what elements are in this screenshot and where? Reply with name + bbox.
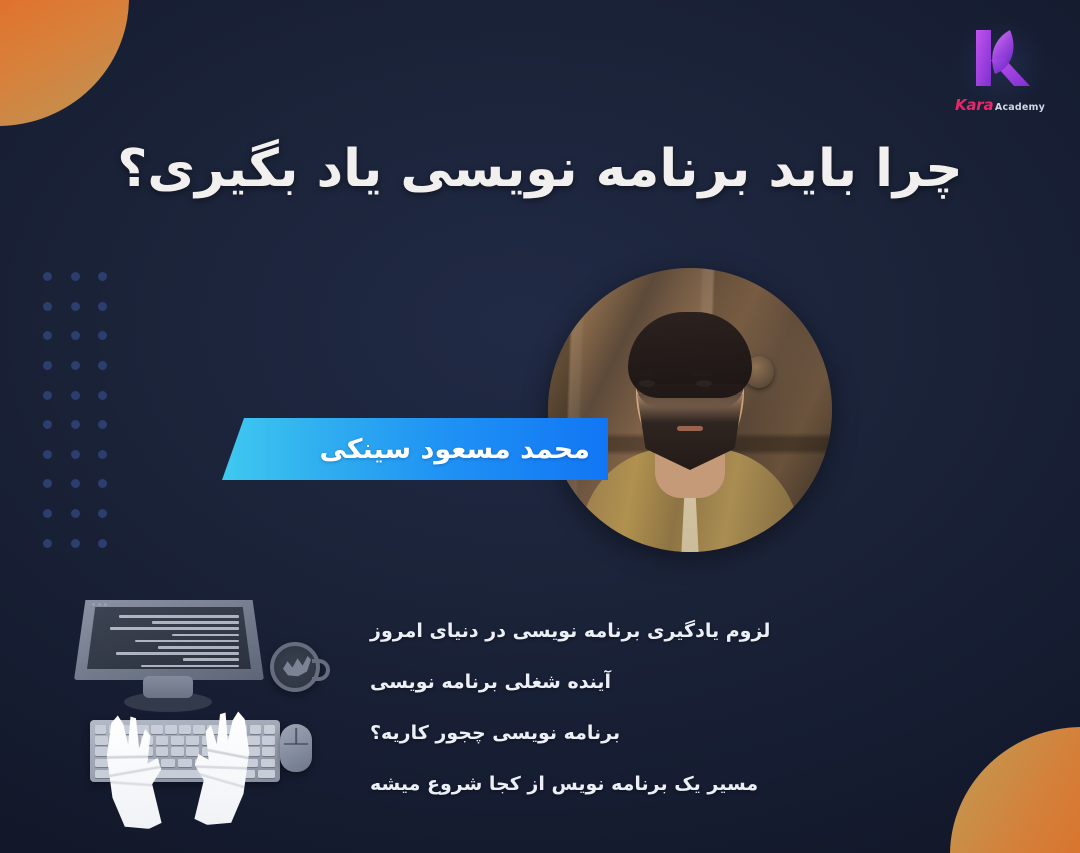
brand-logo[interactable]: KaraAcademy — [948, 26, 1052, 114]
mug-steam — [283, 656, 311, 678]
computer-mouse-icon — [280, 724, 312, 772]
monitor-screen-code — [87, 607, 251, 669]
poster-canvas: KaraAcademy چرا باید برنامه نویسی یاد بگ… — [0, 0, 1080, 853]
monitor-stand — [143, 676, 193, 698]
list-item: لزوم یادگیری برنامه نویسی در دنیای امروز — [370, 622, 790, 641]
portrait-eyebrow-right — [690, 371, 712, 376]
list-item: برنامه نویسی چجور کاریه؟ — [370, 724, 790, 743]
speaker-name-banner: محمد مسعود سینکی — [222, 418, 608, 480]
monitor-icon — [74, 600, 264, 680]
speaker-avatar — [548, 268, 832, 552]
logo-name-primary: Kara — [955, 96, 993, 114]
corner-accent-top-left — [0, 0, 129, 126]
dot-grid-decoration — [34, 262, 116, 558]
portrait-eye-left — [639, 380, 655, 387]
portrait-mouth — [677, 426, 703, 431]
topic-list: لزوم یادگیری برنامه نویسی در دنیای امروز… — [370, 622, 790, 794]
speaker-name: محمد مسعود سینکی — [319, 434, 590, 465]
desk-workstation-illustration — [62, 596, 318, 838]
page-title: چرا باید برنامه نویسی یاد بگیری؟ — [0, 140, 1080, 200]
corner-accent-bottom-right — [950, 727, 1080, 853]
portrait-eyebrow-left — [633, 371, 655, 376]
list-item: مسیر یک برنامه نویس از کجا شروع میشه — [370, 775, 790, 794]
logo-wordmark: KaraAcademy — [948, 97, 1052, 113]
kara-k-logo-icon — [962, 28, 1036, 90]
list-item: آینده شغلی برنامه نویسی — [370, 673, 790, 692]
logo-name-secondary: Academy — [995, 102, 1045, 113]
monitor-window-dots — [92, 603, 107, 606]
mug-handle — [312, 659, 330, 681]
coffee-mug-icon — [270, 642, 320, 692]
portrait-eye-right — [696, 380, 712, 387]
